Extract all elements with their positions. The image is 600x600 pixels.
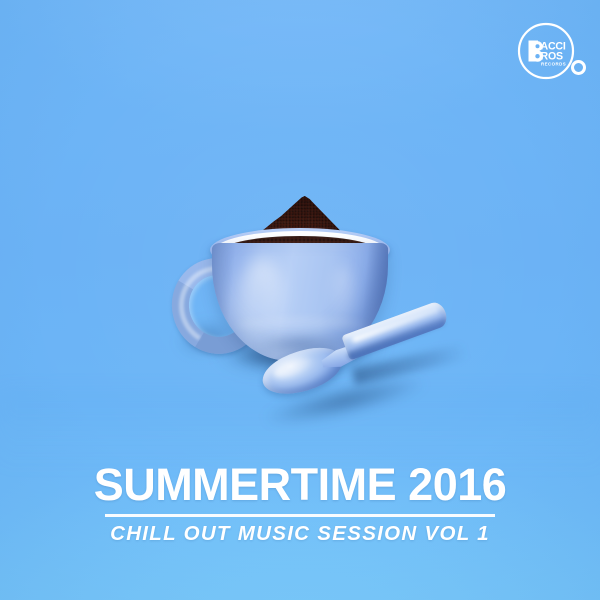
title-divider	[105, 514, 495, 517]
logo-line3: RECORDS	[541, 62, 566, 67]
registered-mark-icon	[571, 60, 586, 75]
page-subtitle: CHILL OUT MUSIC SESSION VOL 1	[0, 522, 600, 546]
title-block: SUMMERTIME 2016 CHILL OUT MUSIC SESSION …	[0, 460, 600, 546]
album-cover: ACCI ROS RECORDS SUMMERTIME 2016 CHILL O…	[0, 0, 600, 600]
bacci-bros-records-logo[interactable]: ACCI ROS RECORDS	[517, 22, 575, 80]
page-title: SUMMERTIME 2016	[0, 460, 600, 510]
